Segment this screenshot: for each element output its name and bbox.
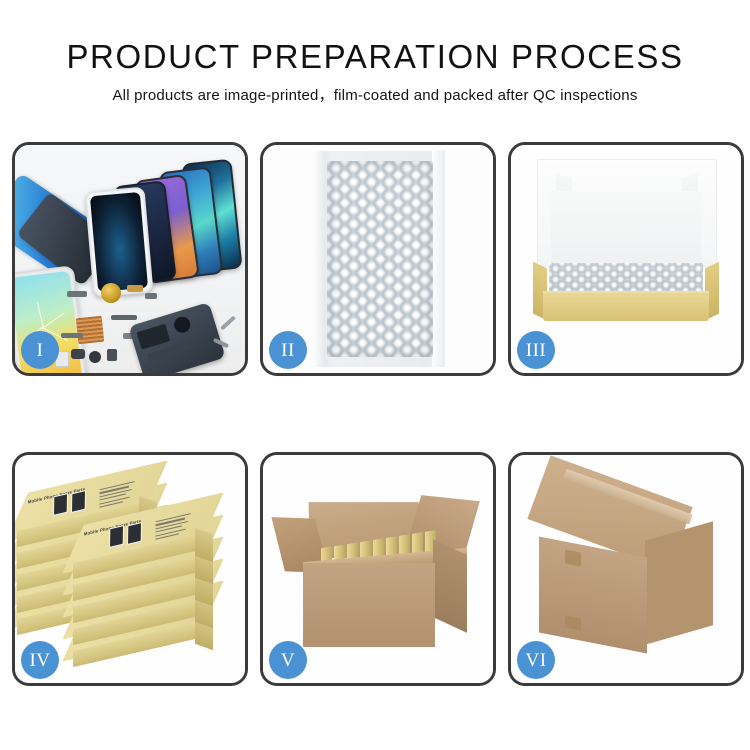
page-subtitle: All products are image-printed，film-coat… [0,76,750,105]
carton-front-face [539,537,647,654]
product-preparation-infographic: PRODUCT PREPARATION PROCESS All products… [0,0,750,750]
phone-white-bezel [84,187,153,298]
small-part [145,293,157,299]
small-part [89,351,101,363]
step-badge-4: IV [21,641,59,679]
small-part [107,349,117,361]
process-step-grid: I II [12,142,738,680]
small-part [71,349,85,359]
step-panel-5: V [260,452,496,686]
carton-front-wall [303,563,435,647]
step-panel-6: VI [508,452,744,686]
copper-shield-pad [76,316,105,345]
step-badge-1: I [21,331,59,369]
wrap-edge-left [313,151,326,367]
carton-side-right [433,539,467,633]
step-panel-4: Mobile Phone Spare Parts Mobil [12,452,248,686]
carton-tab-upper [565,549,581,566]
small-part [67,291,87,297]
box-label-phone-image [109,525,124,548]
tweezers-tool [220,315,236,330]
step-panel-2: II [260,142,496,376]
carton-right-face [645,521,713,644]
box-label-phone-image [127,522,142,545]
flex-cable [61,333,83,338]
page-title: PRODUCT PREPARATION PROCESS [0,0,750,76]
step-badge-3: III [517,331,555,369]
wrap-edge-right [432,151,445,367]
mailer-front-wall [543,295,709,321]
header: PRODUCT PREPARATION PROCESS All products… [0,0,750,105]
bubble-texture [327,161,433,357]
mailer-interior [551,191,701,269]
box-label-phone-image [71,490,86,513]
flex-cable [111,315,137,320]
phone-chassis-open [128,302,225,373]
step-panel-3: III [508,142,744,376]
step-panel-1: I [12,142,248,376]
bubble-wrap-sheet [313,151,445,367]
speaker-module [101,283,121,303]
small-part [127,285,143,292]
step-badge-2: II [269,331,307,369]
box-label-phone-image [53,493,68,516]
step-badge-6: VI [517,641,555,679]
step-badge-5: V [269,641,307,679]
